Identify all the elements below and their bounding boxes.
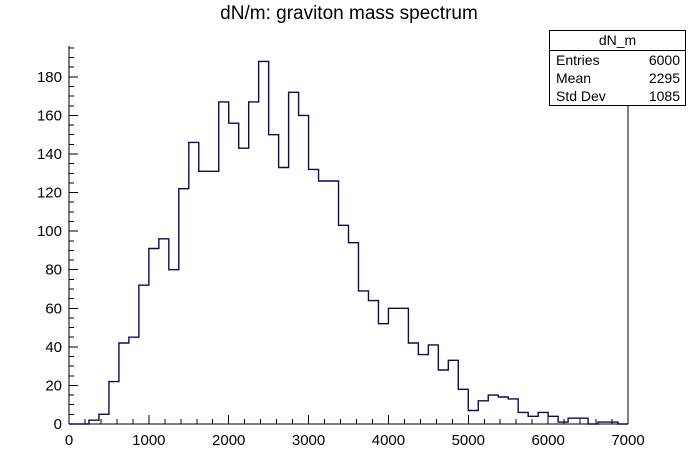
stats-value-mean: 2295 <box>649 69 680 87</box>
stats-value-entries: 6000 <box>649 51 680 69</box>
x-tick-label: 6000 <box>531 432 564 449</box>
x-tick-label: 7000 <box>611 432 644 449</box>
x-tick-label: 5000 <box>452 432 485 449</box>
stats-row-entries: Entries 6000 <box>550 51 685 69</box>
stats-label-mean: Mean <box>556 69 591 87</box>
y-tick-label: 0 <box>54 416 62 433</box>
stats-value-stddev: 1085 <box>649 87 680 105</box>
y-tick-label: 40 <box>45 339 62 356</box>
x-tick-label: 4000 <box>372 432 405 449</box>
y-tick-label: 120 <box>37 185 62 202</box>
statistics-box[interactable]: dN_m Entries 6000 Mean 2295 Std Dev 1085 <box>549 30 686 106</box>
stats-label-stddev: Std Dev <box>556 87 606 105</box>
histogram-outline <box>69 61 628 424</box>
stats-label-entries: Entries <box>556 51 600 69</box>
x-tick-label: 2000 <box>212 432 245 449</box>
y-tick-label: 100 <box>37 223 62 240</box>
x-tick-label: 0 <box>65 432 73 449</box>
y-tick-label: 60 <box>45 300 62 317</box>
stats-title: dN_m <box>550 31 685 51</box>
y-tick-label: 80 <box>45 262 62 279</box>
root-canvas: dN/m: graviton mass spectrum 01000200030… <box>0 0 698 471</box>
y-tick-label: 160 <box>37 107 62 124</box>
x-tick-label: 1000 <box>132 432 165 449</box>
x-tick-label: 3000 <box>292 432 325 449</box>
y-tick-label: 140 <box>37 146 62 163</box>
y-tick-label: 20 <box>45 377 62 394</box>
y-tick-label: 180 <box>37 69 62 86</box>
stats-row-stddev: Std Dev 1085 <box>550 87 685 105</box>
stats-row-mean: Mean 2295 <box>550 69 685 87</box>
